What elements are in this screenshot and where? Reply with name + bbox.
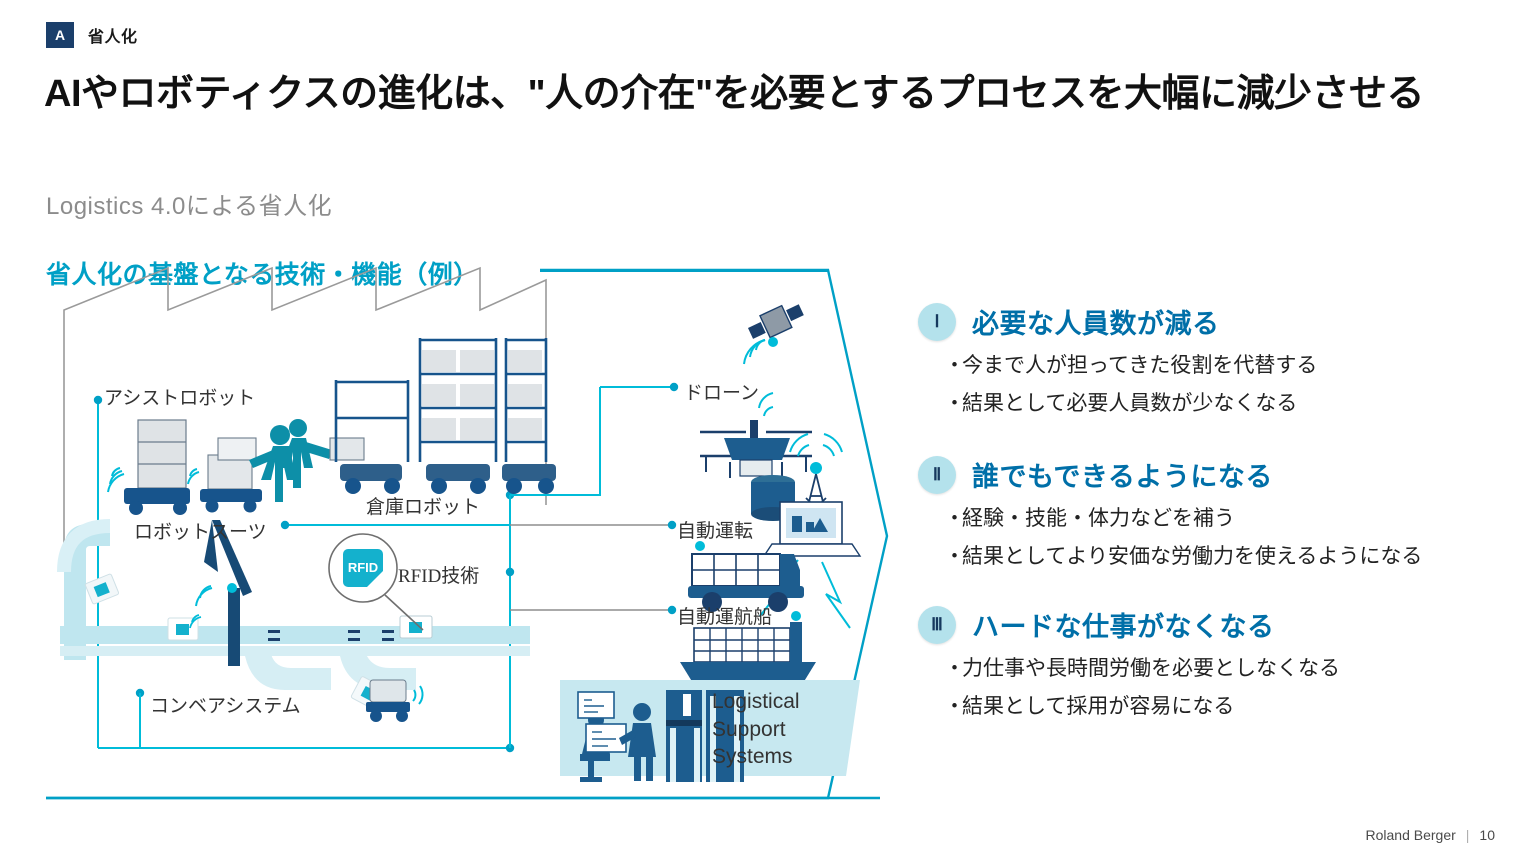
bullet-text: 結果としてより安価な労働力を使えるようになる [962, 540, 1422, 570]
diagram-label-drone: ドローン [684, 378, 759, 405]
gray-connectors [510, 525, 670, 610]
assist-robot-icon [108, 420, 190, 515]
diagram-label-warehouse-robot: 倉庫ロボット [366, 492, 480, 519]
list-item: ・ 経験・技能・体力などを補う [944, 502, 1422, 532]
bullet-text: 力仕事や長時間労働を必要としなくなる [962, 652, 1340, 682]
bullet-text: 今まで人が担ってきた役割を代替する [962, 349, 1317, 379]
diagram-label-assist-robot: アシストロボット [104, 383, 255, 410]
benefit-2-bullets: ・ 経験・技能・体力などを補う ・ 結果としてより安価な労働力を使えるようになる [944, 502, 1422, 570]
autonomous-ship-node [668, 606, 676, 614]
list-item: ・ 結果として採用が容易になる [944, 690, 1340, 720]
benefit-1-title: 必要な人員数が減る [972, 302, 1220, 341]
diagram-label-conveyor: コンベアシステム [150, 691, 301, 718]
list-item: ・ 結果として必要人員数が少なくなる [944, 387, 1317, 417]
diagram-label-autonomous-ship: 自動運航船 [677, 602, 772, 629]
slide: A 省人化 AIやロボティクスの進化は、"人の介在"を必要とするプロセスを大幅に… [0, 0, 1517, 853]
satellite-icon [744, 299, 806, 364]
subtitle: Logistics 4.0による省人化 [46, 186, 332, 221]
bullet-marker: ・ [944, 502, 962, 532]
footer-page-number: 10 [1479, 827, 1495, 843]
diagram-label-robot-suit: ロボットスーツ [134, 517, 267, 544]
benefit-1-head: Ⅰ 必要な人員数が減る [918, 302, 1317, 341]
diagram-label-autonomous-driving: 自動運転 [677, 516, 753, 543]
benefit-block-2: Ⅱ 誰でもできるようになる ・ 経験・技能・体力などを補う ・ 結果としてより安… [918, 455, 1422, 570]
footer-divider: | [1466, 827, 1470, 843]
benefit-2-head: Ⅱ 誰でもできるようになる [918, 455, 1422, 494]
list-item: ・ 今まで人が担ってきた役割を代替する [944, 349, 1317, 379]
benefit-2-title: 誰でもできるようになる [972, 455, 1273, 494]
list-item: ・ 力仕事や長時間労働を必要としなくなる [944, 652, 1340, 682]
benefit-3-head: Ⅲ ハードな仕事がなくなる [918, 605, 1340, 644]
logistical-support-systems-label: Logistical Support Systems [712, 688, 800, 771]
bullet-marker: ・ [944, 690, 962, 720]
benefit-3-bullets: ・ 力仕事や長時間労働を必要としなくなる ・ 結果として採用が容易になる [944, 652, 1340, 720]
section-header: A 省人化 [46, 22, 138, 48]
lss-line-3: Systems [712, 743, 800, 771]
section-badge: A [46, 22, 74, 48]
lss-line-1: Logistical [712, 688, 800, 716]
benefit-block-3: Ⅲ ハードな仕事がなくなる ・ 力仕事や長時間労働を必要としなくなる ・ 結果と… [918, 605, 1340, 720]
bullet-text: 結果として必要人員数が少なくなる [962, 387, 1297, 417]
benefit-1-numeral: Ⅰ [918, 303, 956, 341]
bullet-marker: ・ [944, 540, 962, 570]
warehouse-robot-icon [281, 338, 556, 494]
benefit-1-bullets: ・ 今まで人が担ってきた役割を代替する ・ 結果として必要人員数が少なくなる [944, 349, 1317, 417]
benefit-3-numeral: Ⅲ [918, 606, 956, 644]
svg-text:RFID: RFID [348, 560, 378, 575]
bullet-text: 結果として採用が容易になる [962, 690, 1234, 720]
autonomous-driving-node [668, 521, 676, 529]
section-label: 省人化 [88, 23, 138, 47]
logistical-support-systems-box [560, 680, 860, 782]
footer: Roland Berger | 10 [1366, 827, 1496, 843]
robot-suit-icon [188, 425, 297, 513]
benefit-block-1: Ⅰ 必要な人員数が減る ・ 今まで人が担ってきた役割を代替する ・ 結果として必… [918, 302, 1317, 417]
diagram-label-rfid: RFID技術 [398, 561, 479, 588]
drone-icon [700, 393, 812, 478]
benefit-2-numeral: Ⅱ [918, 456, 956, 494]
footer-brand: Roland Berger [1366, 827, 1456, 843]
page-title: AIやロボティクスの進化は、"人の介在"を必要とするプロセスを大幅に減少させる [44, 62, 1474, 117]
lss-line-2: Support [712, 716, 800, 744]
bullet-text: 経験・技能・体力などを補う [962, 502, 1235, 532]
bullet-marker: ・ [944, 387, 962, 417]
bullet-marker: ・ [944, 349, 962, 379]
list-item: ・ 結果としてより安価な労働力を使えるようになる [944, 540, 1422, 570]
bullet-marker: ・ [944, 652, 962, 682]
benefit-3-title: ハードな仕事がなくなる [972, 605, 1275, 644]
